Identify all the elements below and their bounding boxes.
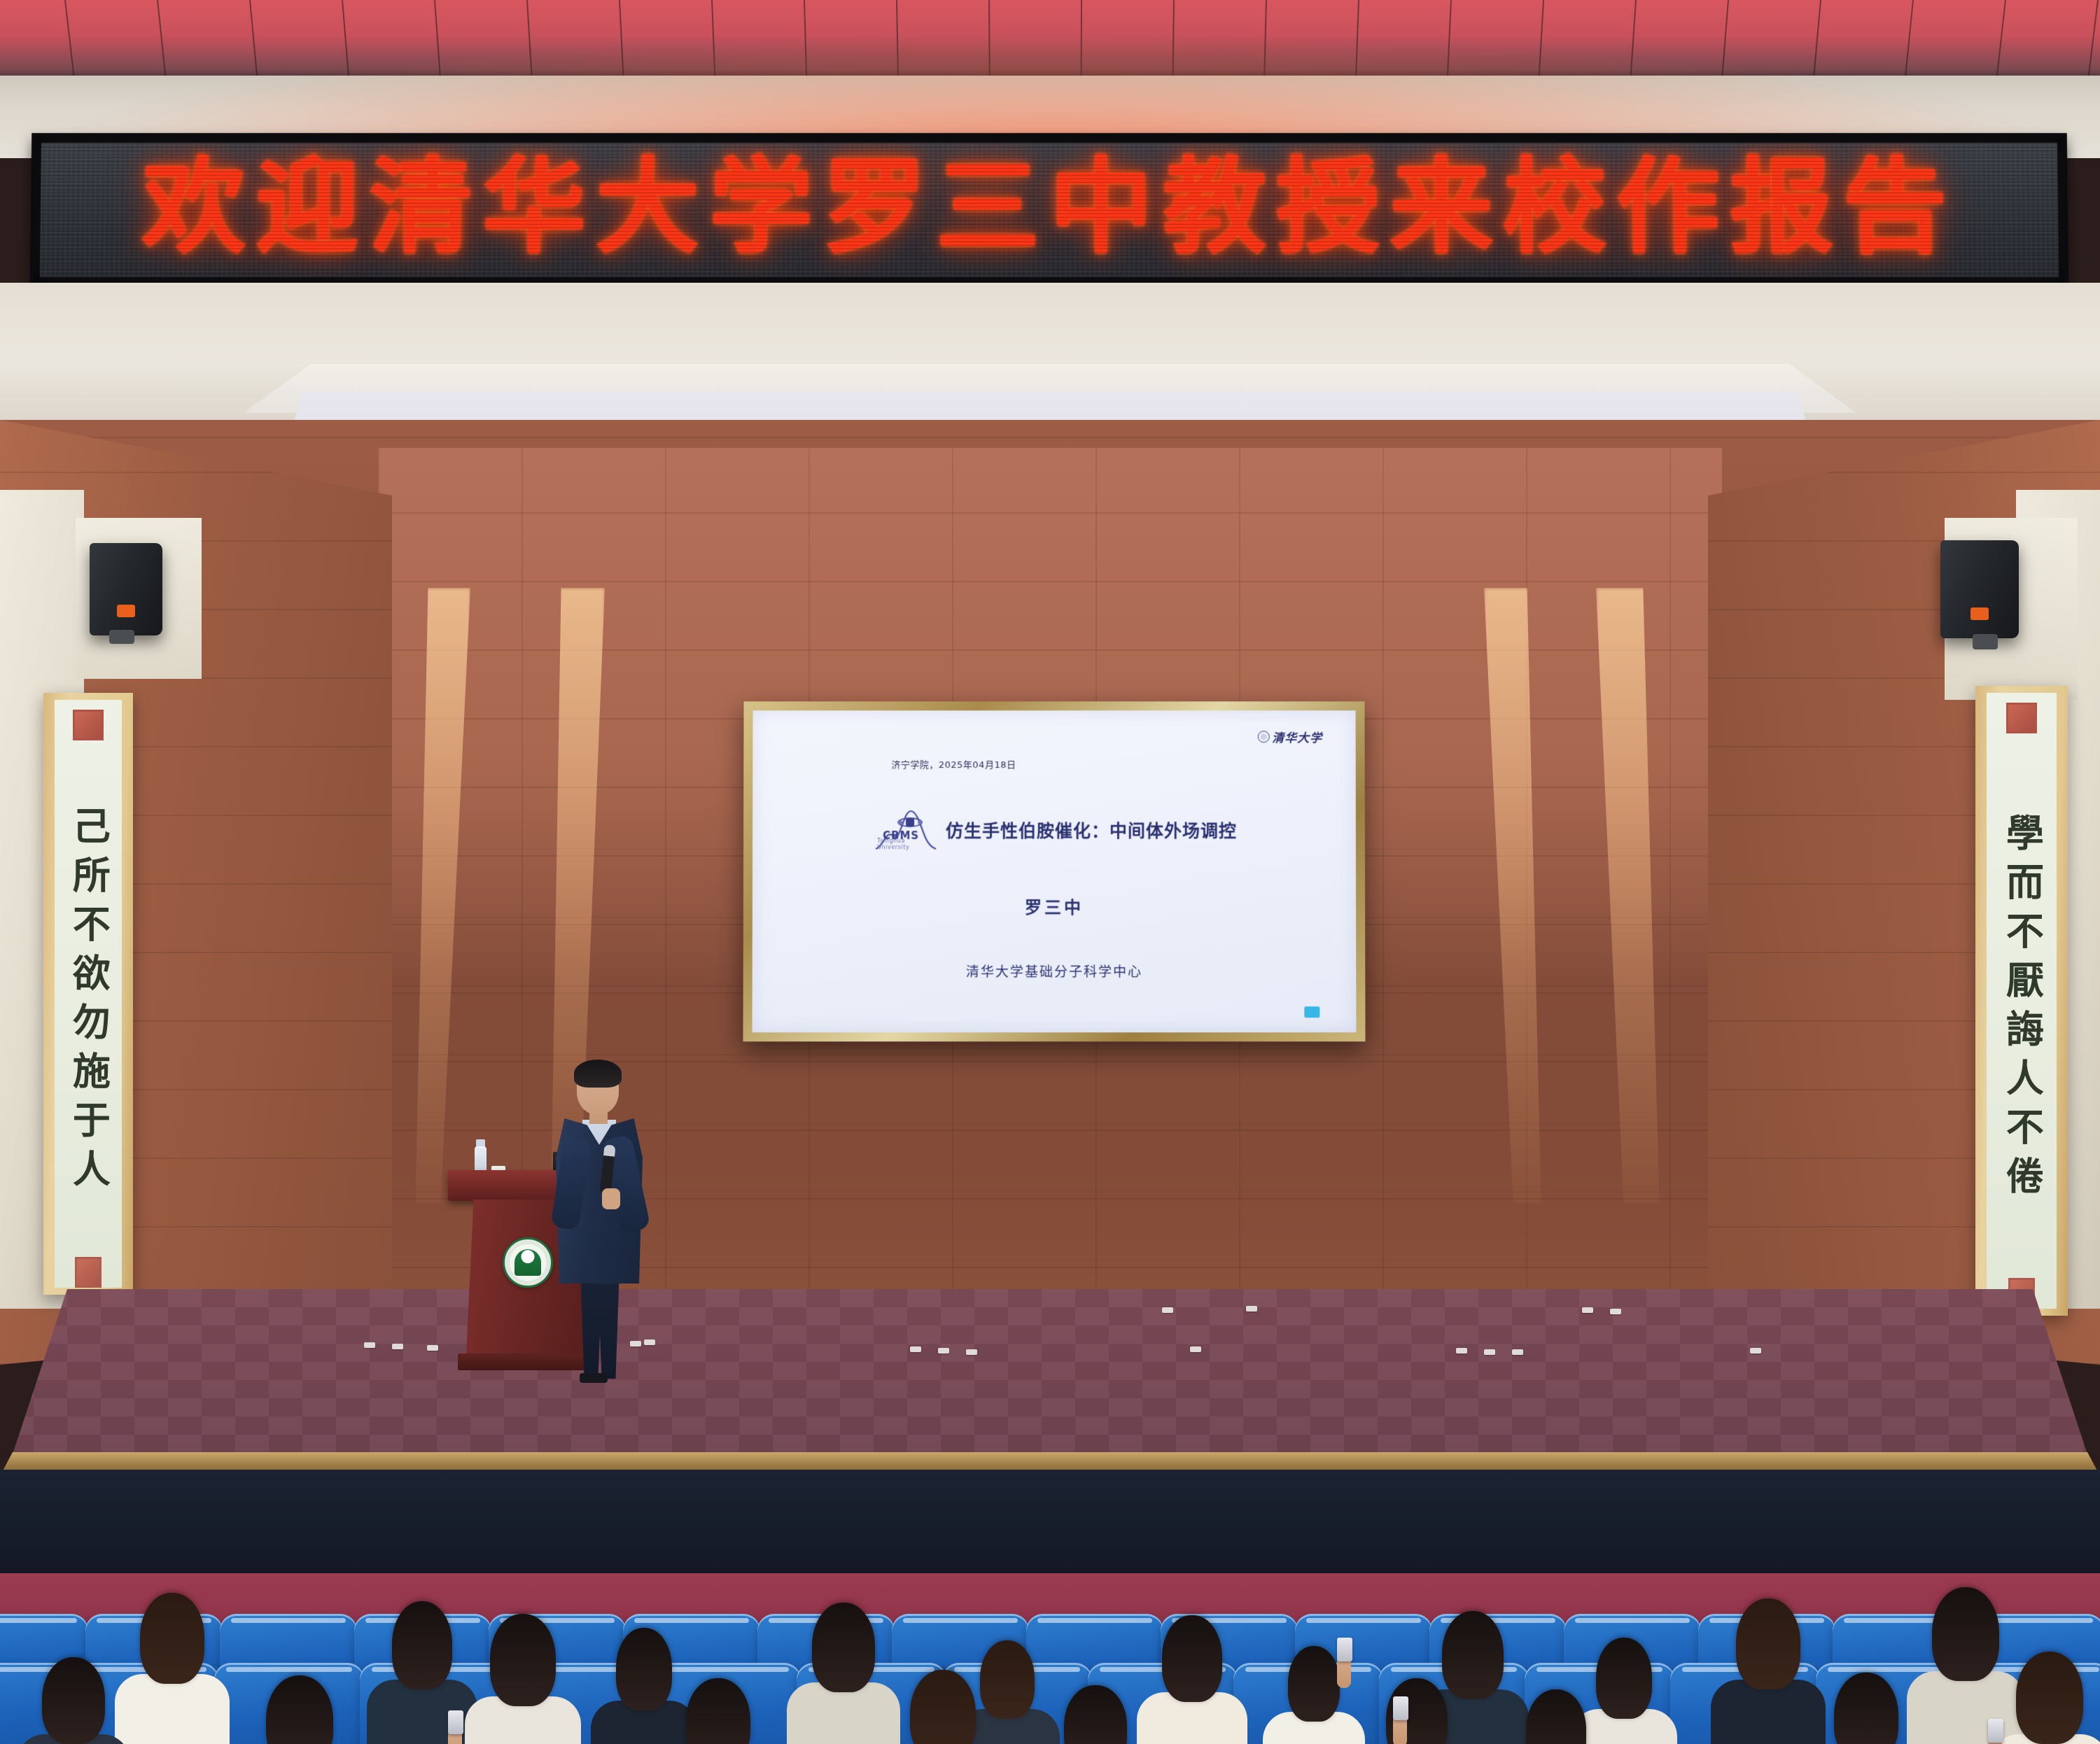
ceiling-red-tiles [0,0,2100,78]
left-wall-scroll: 己所不欲勿施于人 [43,693,133,1295]
ceiling-tile-seam [157,0,167,78]
slide-author: 罗三中 [752,894,1356,918]
ceiling-tile-seam [896,0,899,78]
floor-debris [364,1342,375,1348]
slide-corner-badge [1305,1006,1320,1018]
ceiling-tile-seam [1813,0,1821,78]
floor-debris [1456,1348,1467,1353]
audience-member-head [1288,1646,1340,1722]
audience-member-head [1442,1611,1504,1699]
audience-member-head [42,1657,105,1744]
tsinghua-university-logo: 清华大学 [1257,729,1322,746]
led-banner-board: 欢迎清华大学罗三中教授来校作报告 [40,143,2059,277]
left-scroll-paper: 己所不欲勿施于人 [55,700,122,1288]
slide-title-row: CBMS Tsinghua University 仿生手性伯胺催化：中间体外场调… [752,807,1356,853]
right-speaker-mount [1973,634,1998,649]
ceiling-tile-seam [1996,0,2006,78]
floor-debris [427,1345,438,1351]
slide-affiliation: 清华大学基础分子科学中心 [752,962,1357,980]
floor-debris [1190,1346,1201,1352]
floor-debris [1484,1349,1495,1355]
audience-member-head [812,1603,875,1692]
ceiling-tile-seam [711,0,715,78]
audience-member-head [2016,1652,2083,1744]
audience-member-head [392,1601,452,1689]
audience-phone [448,1710,463,1734]
tsinghua-seal-icon [1257,731,1269,743]
led-welcome-banner: 欢迎清华大学罗三中教授来校作报告 [31,133,2068,287]
audience-member-head [1736,1598,1800,1689]
audience-member-head [980,1640,1035,1719]
crest-inner-mark [514,1249,541,1276]
ceiling-tile-seam [249,0,258,78]
ceiling-tile-seam [988,0,990,78]
ceiling-tile-seam [1355,0,1359,78]
left-speaker-mount [109,630,134,644]
right-scroll-text: 學而不厭誨人不倦 [2002,740,2042,1278]
projection-screen-surface: 清华大学 济宁学院，2025年04月18日 CBMS Tsinghua Univ… [752,710,1357,1032]
left-scroll-text: 己所不欲勿施于人 [69,747,108,1257]
audience-member-head [1162,1615,1222,1702]
audience-member-head [1932,1587,1999,1681]
floor-debris [910,1346,921,1352]
audience-member-head [140,1593,204,1684]
audience-member-shoulders [1907,1671,2024,1744]
projection-screen-frame: 清华大学 济宁学院，2025年04月18日 CBMS Tsinghua Univ… [743,701,1365,1041]
right-scroll-seal-top [2006,703,2037,733]
left-wall-speaker [90,543,162,635]
floor-debris [1162,1307,1173,1313]
stage-apron-front [0,1470,2100,1582]
audience-phone [1393,1696,1408,1720]
ceiling-tile-seam [1172,0,1175,78]
audience-member-shoulders [115,1674,230,1744]
ceiling-tile-seam [1539,0,1544,78]
floor-debris [392,1344,403,1349]
ceiling-tile-seam [1081,0,1082,78]
ceiling-tile-seam [1630,0,1637,78]
auditorium-photo: 欢迎清华大学罗三中教授来校作报告 己所 [0,0,2100,1744]
audience-member-head [910,1670,976,1744]
floor-debris [1610,1309,1621,1314]
ceiling-tile-seam [1721,0,1729,78]
right-wall-speaker [1940,540,2019,638]
slide-title: 仿生手性伯胺催化：中间体外场调控 [946,817,1237,843]
ceiling-tile-seam [2087,0,2099,78]
left-scroll-seal-top [73,710,104,740]
right-wall-scroll: 學而不厭誨人不倦 [1975,686,2068,1316]
ceiling-tile-seam [434,0,441,78]
presenter [546,1064,658,1386]
ceiling-tile-seam [804,0,807,78]
speaker-brand-badge-left [117,605,135,617]
left-scroll-seal-bottom [75,1257,101,1288]
audience-member-head [616,1628,672,1710]
presenter-hair [574,1060,622,1088]
presenter-shoe [580,1373,608,1383]
floor-debris [1246,1306,1257,1311]
audience-area: 济宁学院济宁学院济宁学院济宁学院济宁学院济宁学院济宁学院济宁学院济宁学院济宁学院… [0,1573,2100,1744]
ceiling-tile-seam [1905,0,1914,78]
presenter-legs [577,1274,623,1379]
cbms-subtitle: Tsinghua University [877,838,939,850]
led-banner-text: 欢迎清华大学罗三中教授来校作报告 [141,155,1956,259]
floor-debris [938,1348,949,1353]
right-scroll-paper: 學而不厭誨人不倦 [1987,693,2057,1309]
slide-date-line: 济宁学院，2025年04月18日 [891,757,1016,771]
cbms-logo: CBMS Tsinghua University [871,807,939,853]
audience-phone [1337,1638,1352,1661]
ceiling-tile-seam [619,0,624,78]
floor-debris [1582,1307,1593,1313]
presenter-hand [602,1188,620,1209]
floor-debris [1750,1348,1761,1353]
speaker-brand-badge-right [1970,607,1989,620]
tsinghua-logo-text: 清华大学 [1272,729,1322,746]
audience-member-head [490,1614,556,1706]
audience-member-head [1596,1638,1652,1719]
audience-phone [1988,1719,2003,1743]
floor-debris [966,1349,977,1355]
ceiling-tile-seam [1447,0,1452,78]
led-banner-frame: 欢迎清华大学罗三中教授来校作报告 [30,133,2069,287]
ceiling-tile-seam [64,0,75,78]
ceiling-tile-seam [526,0,533,78]
ceiling-tile-seam [1263,0,1267,78]
ceiling-tile-seam [342,0,349,78]
floor-debris [1512,1349,1523,1355]
